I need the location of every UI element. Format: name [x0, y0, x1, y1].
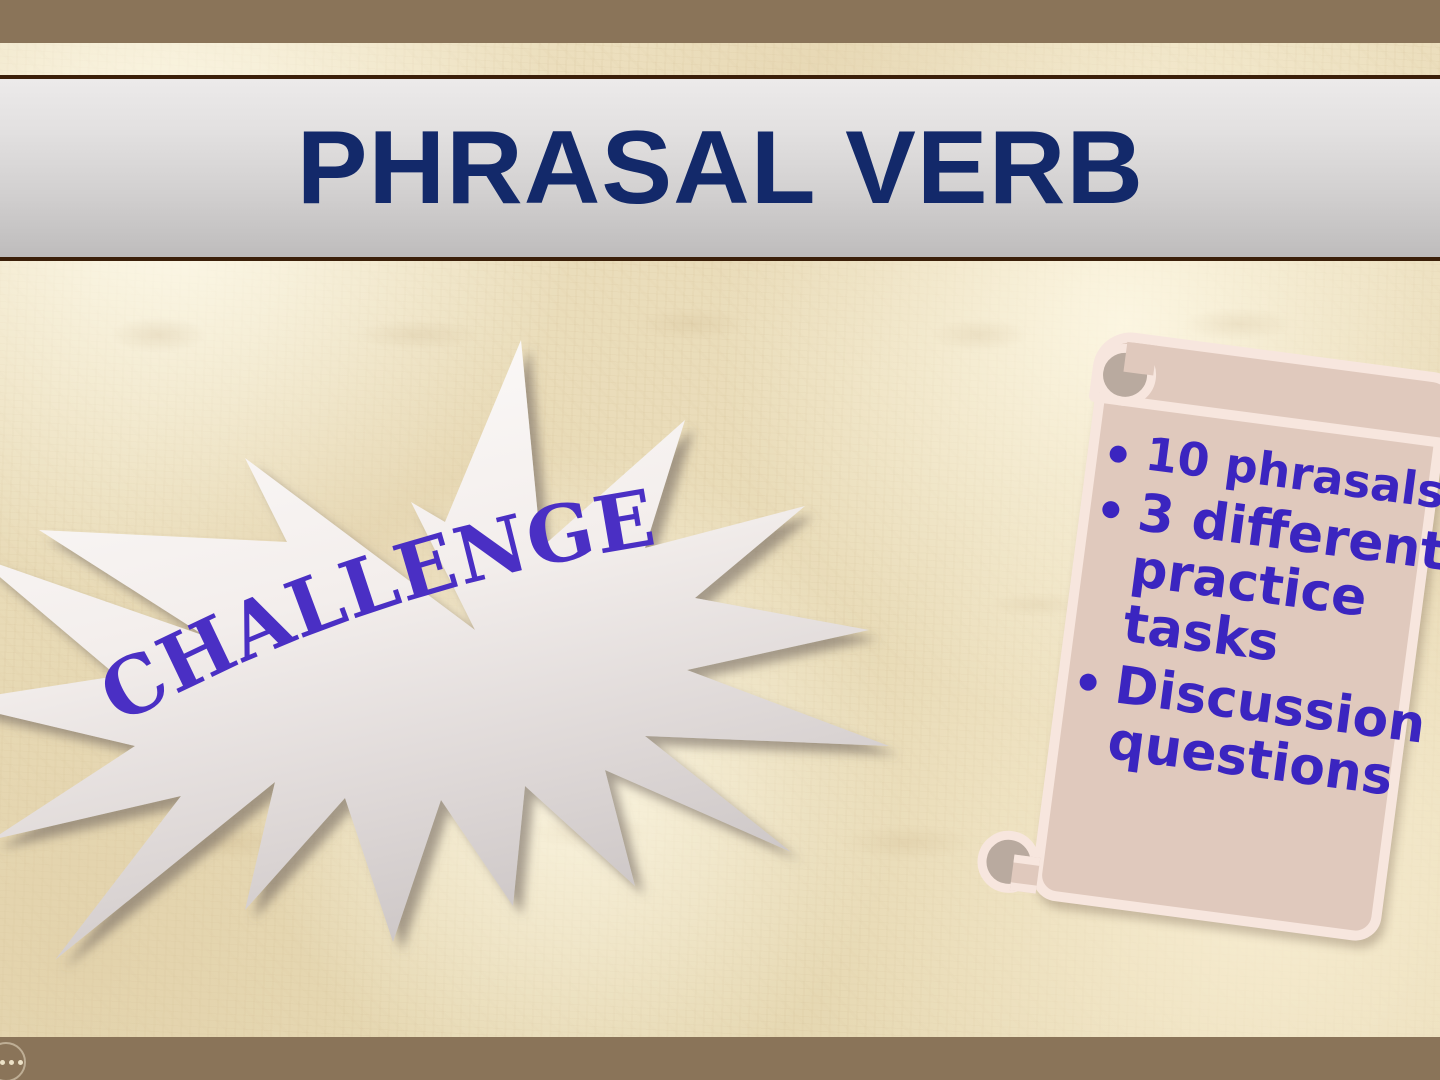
bottom-chrome-bar: [0, 1037, 1440, 1080]
title-banner: PHRASAL VERB: [0, 75, 1440, 261]
starburst-shape: [0, 340, 889, 960]
more-dot-icon: [18, 1060, 23, 1065]
more-dot-icon: [9, 1060, 14, 1065]
scroll-curl-bottom-icon: [974, 827, 1044, 897]
top-chrome-bar: [0, 0, 1440, 43]
slide-canvas: PHRASAL VERB: [0, 0, 1440, 1080]
scroll-note: 10 phrasals 3 different practice tasks D…: [962, 327, 1440, 988]
more-dot-icon: [0, 1060, 5, 1065]
challenge-starburst: CHALLENGE: [0, 330, 905, 950]
scroll-bullet-list: 10 phrasals 3 different practice tasks D…: [1056, 423, 1440, 821]
page-title: PHRASAL VERB: [296, 116, 1143, 220]
